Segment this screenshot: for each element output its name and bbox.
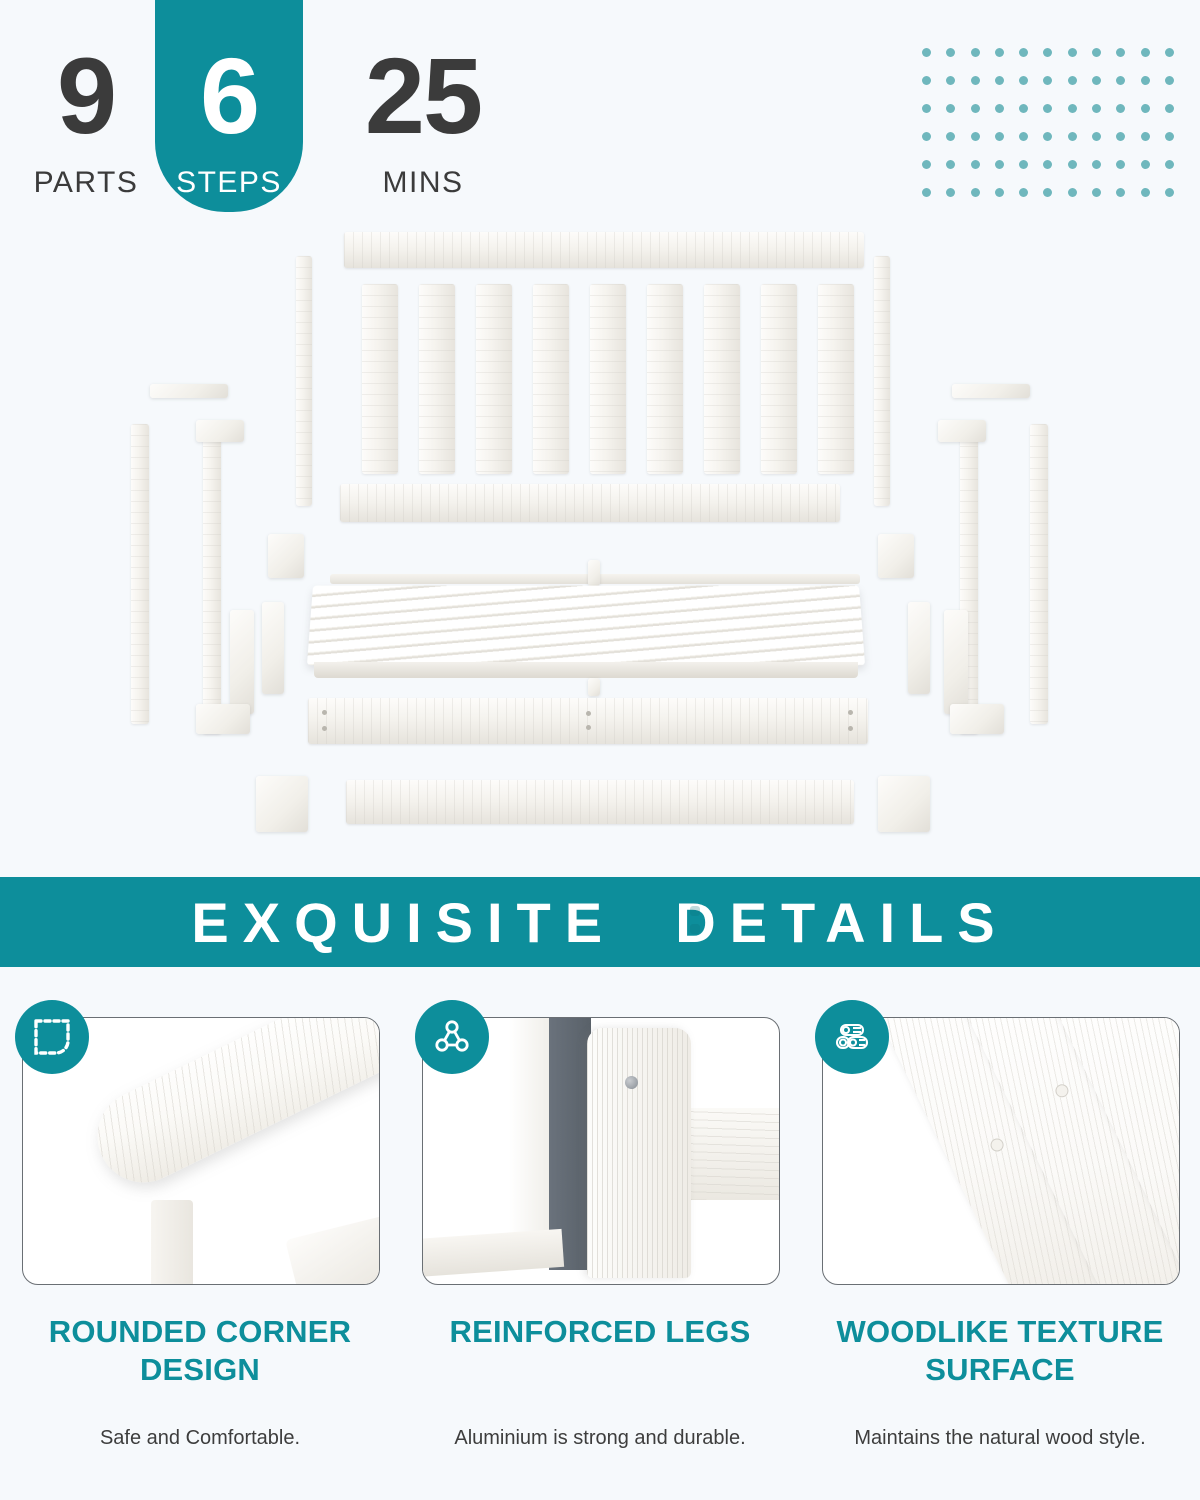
decoration-dot [946, 104, 955, 113]
dot-row [922, 48, 1174, 57]
decoration-dot [1141, 76, 1150, 85]
decoration-dot [995, 188, 1004, 197]
decoration-dot [971, 48, 980, 57]
stacked-logs-icon [815, 1000, 889, 1074]
decoration-dot [1141, 188, 1150, 197]
parts-exploded-diagram [0, 212, 1200, 872]
part-spacer-right-2 [944, 610, 968, 714]
decoration-dot [995, 104, 1004, 113]
part-backrest-slat [419, 284, 455, 474]
stat-mins-value: 25 [330, 42, 516, 150]
decoration-dot [1116, 160, 1125, 169]
part-seat-front-edge [314, 662, 858, 678]
feature-cards-row: ROUNDED CORNER DESIGN Safe and Comfortab… [0, 995, 1200, 1500]
part-backrest-slat [704, 284, 740, 474]
decoration-dot [922, 48, 931, 57]
part-stretcher-end-right [878, 776, 930, 832]
decoration-dot [922, 160, 931, 169]
decoration-dot [1165, 188, 1174, 197]
part-backrest-slat [647, 284, 683, 474]
decoration-dot [1068, 48, 1077, 57]
decoration-dot [971, 76, 980, 85]
decoration-dot [1068, 104, 1077, 113]
decoration-dot [971, 188, 980, 197]
part-spacer-left-2 [230, 610, 254, 714]
part-backrest-slat [476, 284, 512, 474]
decoration-dot [1019, 188, 1028, 197]
stat-steps-badge: 6 STEPS [155, 0, 303, 212]
decoration-dot [1165, 76, 1174, 85]
decoration-dot [1043, 160, 1052, 169]
decoration-dot [946, 76, 955, 85]
part-leg-right-outer [1030, 424, 1048, 724]
decoration-dot [1043, 132, 1052, 141]
decoration-dot [1141, 132, 1150, 141]
exquisite-details-banner: EXQUISITE DETAILS [0, 877, 1200, 967]
decoration-dot [1043, 188, 1052, 197]
part-backrest-slat [362, 284, 398, 474]
part-backrest-slat [761, 284, 797, 474]
dot-row [922, 188, 1174, 197]
part-back-post-right [874, 256, 890, 506]
decoration-dot [1141, 104, 1150, 113]
decoration-dot [995, 76, 1004, 85]
decoration-dot [1068, 76, 1077, 85]
part-armrest-support-left [196, 420, 244, 442]
part-backrest-slat [818, 284, 854, 474]
decoration-dot [1092, 160, 1101, 169]
part-cap-left [150, 384, 228, 398]
decoration-dot [995, 48, 1004, 57]
decoration-dot [1019, 76, 1028, 85]
dot-row [922, 76, 1174, 85]
decoration-dot [971, 132, 980, 141]
dot-row [922, 104, 1174, 113]
part-backrest-slat [533, 284, 569, 474]
decoration-dot [946, 188, 955, 197]
part-armrest-support-right [938, 420, 986, 442]
feature-title: REINFORCED LEGS [410, 1313, 790, 1351]
rounded-corner-icon [15, 1000, 89, 1074]
part-bottom-stretcher-rail [346, 780, 854, 824]
part-back-post-left [296, 256, 312, 506]
banner-title: EXQUISITE DETAILS [191, 890, 1008, 955]
decoration-dot [922, 188, 931, 197]
part-lower-back-rail [340, 484, 840, 522]
decoration-dot [1165, 104, 1174, 113]
decoration-dot [1019, 132, 1028, 141]
decoration-dot [946, 160, 955, 169]
part-connector-block-left [268, 534, 304, 578]
banner-dot-mark [690, 906, 702, 944]
feature-title: ROUNDED CORNER DESIGN [10, 1313, 390, 1389]
part-seat-center-tab-top [588, 560, 600, 586]
decoration-dot [1068, 160, 1077, 169]
decoration-dot [1019, 104, 1028, 113]
decoration-dot [946, 48, 955, 57]
part-leg-left-inner [203, 424, 221, 734]
decoration-dot [1116, 188, 1125, 197]
part-backrest-slat [590, 284, 626, 474]
part-foot-block-left [196, 704, 250, 734]
decoration-dot [1068, 132, 1077, 141]
part-leg-left-outer [131, 424, 149, 724]
decoration-dot [1165, 132, 1174, 141]
decoration-dot [1165, 160, 1174, 169]
stat-steps-label: STEPS [155, 166, 303, 200]
part-seat-slat-panel [307, 586, 865, 666]
decoration-dot [1019, 48, 1028, 57]
decoration-dot [1092, 48, 1101, 57]
part-top-rail [344, 232, 864, 268]
stat-mins-label: MINS [330, 166, 516, 200]
triangle-node-icon [415, 1000, 489, 1074]
decoration-dot [971, 104, 980, 113]
decoration-dot [1116, 104, 1125, 113]
dot-row [922, 132, 1174, 141]
part-cap-right [952, 384, 1030, 398]
decoration-dot [995, 160, 1004, 169]
stat-parts-value: 9 [18, 42, 154, 150]
decoration-dot [922, 104, 931, 113]
decoration-dot [946, 132, 955, 141]
decoration-dot [1092, 104, 1101, 113]
stat-parts: 9 PARTS [18, 42, 154, 200]
part-front-apron-rail [308, 698, 868, 744]
decoration-dot [1141, 160, 1150, 169]
decoration-dot [1116, 48, 1125, 57]
decoration-dot [1092, 76, 1101, 85]
decoration-dot [971, 160, 980, 169]
decoration-dot [922, 132, 931, 141]
decoration-dot [1068, 188, 1077, 197]
decoration-dot [1019, 160, 1028, 169]
decoration-dot [922, 76, 931, 85]
decoration-dot [1092, 188, 1101, 197]
feature-card-reinforced-legs: REINFORCED LEGS Aluminium is strong and … [400, 995, 800, 1500]
decoration-dot [1092, 132, 1101, 141]
dot-row [922, 160, 1174, 169]
part-spacer-left [262, 602, 284, 694]
infographic-page: 9 PARTS 6 STEPS 25 MINS [0, 0, 1200, 1500]
feature-title: WOODLIKE TEXTURE SURFACE [810, 1313, 1190, 1389]
decoration-dot [1116, 132, 1125, 141]
decoration-dot [995, 132, 1004, 141]
dot-grid-decoration [922, 48, 1174, 188]
part-spacer-right [908, 602, 930, 694]
decoration-dot [1043, 76, 1052, 85]
part-connector-block-right [878, 534, 914, 578]
part-foot-block-right [950, 704, 1004, 734]
feature-subtitle: Maintains the natural wood style. [810, 1427, 1190, 1450]
feature-card-rounded-corner: ROUNDED CORNER DESIGN Safe and Comfortab… [0, 995, 400, 1500]
feature-card-woodlike-texture: WOODLIKE TEXTURE SURFACE Maintains the n… [800, 995, 1200, 1500]
stat-steps-value: 6 [155, 0, 303, 150]
decoration-dot [1043, 104, 1052, 113]
decoration-dot [1141, 48, 1150, 57]
decoration-dot [1165, 48, 1174, 57]
decoration-dot [1116, 76, 1125, 85]
decoration-dot [1043, 48, 1052, 57]
stat-mins: 25 MINS [330, 42, 516, 200]
feature-subtitle: Safe and Comfortable. [10, 1427, 390, 1450]
feature-subtitle: Aluminium is strong and durable. [410, 1427, 790, 1450]
part-stretcher-end-left [256, 776, 308, 832]
part-seat-center-tab-bottom [588, 678, 600, 696]
stat-parts-label: PARTS [18, 166, 154, 200]
